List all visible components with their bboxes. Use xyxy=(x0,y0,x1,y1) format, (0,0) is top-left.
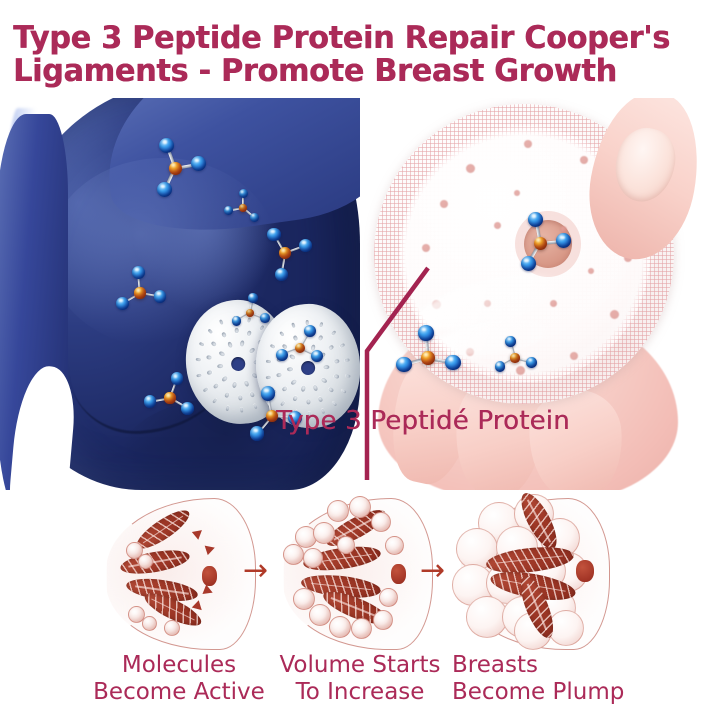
patch-perforation xyxy=(266,375,271,379)
patch-perforation xyxy=(279,331,284,337)
patch-perforation xyxy=(232,381,237,388)
product-infographic: Type 3 Peptide Protein Repair Cooper's L… xyxy=(0,0,720,720)
patch-perforation xyxy=(213,383,219,389)
patch-perforation xyxy=(239,340,244,347)
patch-perforation xyxy=(318,335,324,341)
volume-bubble xyxy=(373,610,393,630)
patch-perforation xyxy=(319,322,324,327)
patch-perforation xyxy=(225,406,229,411)
volume-bubble xyxy=(283,544,304,565)
patch-perforation xyxy=(312,384,318,391)
patch-perforation xyxy=(306,399,310,404)
patch-perforation xyxy=(341,389,347,394)
step-1: Molecules Become Active xyxy=(98,492,268,720)
volume-bubble xyxy=(327,500,349,522)
patch-perforation xyxy=(221,332,227,338)
patch-perforation xyxy=(334,359,340,364)
volume-bubble xyxy=(371,512,391,532)
patch-perforation xyxy=(328,387,334,393)
volume-bubble xyxy=(313,522,335,544)
patch-perforation xyxy=(247,331,252,337)
step-2: Volume Starts To Increase xyxy=(275,492,445,720)
patch-perforation xyxy=(291,323,296,328)
patch-perforation xyxy=(250,391,256,397)
patch-perforation xyxy=(270,343,276,348)
patch-perforation xyxy=(290,378,298,385)
patch-center-hole xyxy=(301,361,316,376)
nipple xyxy=(202,566,217,586)
patch-perforation xyxy=(346,374,351,378)
patch-perforation xyxy=(276,373,282,378)
patch-perforation xyxy=(234,328,238,334)
step-3-breast-diagram xyxy=(452,492,622,650)
patch-perforation xyxy=(266,359,271,363)
volume-bubble xyxy=(329,616,351,638)
patch-perforation xyxy=(345,358,350,362)
patch-perforation xyxy=(286,367,293,372)
patch-perforation xyxy=(199,341,205,346)
patch-perforation xyxy=(253,404,258,409)
step-3: Breasts Become Plump xyxy=(452,492,622,720)
patch-perforation xyxy=(221,375,229,382)
patch-perforation xyxy=(217,364,224,369)
patch-perforation xyxy=(227,341,233,349)
volume-bubble xyxy=(337,536,355,554)
patch-perforation xyxy=(282,344,288,350)
patch-perforation xyxy=(196,373,201,377)
patch-perforation xyxy=(306,320,309,325)
volume-bubble xyxy=(349,496,371,518)
step-1-label: Molecules Become Active xyxy=(84,652,274,706)
patch-perforation xyxy=(340,342,346,347)
patch-perforation xyxy=(323,365,330,370)
patch-perforation xyxy=(298,345,304,352)
molecule-bubble xyxy=(138,554,153,569)
plump-bubble xyxy=(548,610,584,646)
patch-perforation xyxy=(289,353,297,360)
patch-perforation xyxy=(334,374,340,379)
nipple xyxy=(576,560,594,582)
patch-perforation xyxy=(282,386,288,392)
step-3-label: Breasts Become Plump xyxy=(452,652,642,706)
patch-perforation xyxy=(318,396,324,402)
patch-perforation xyxy=(247,318,251,323)
volume-bubble xyxy=(379,588,398,607)
volume-bubble xyxy=(309,604,331,626)
patch-perforation xyxy=(202,387,208,392)
patch-perforation xyxy=(259,325,264,331)
volume-bubble xyxy=(303,548,323,568)
patch-perforation xyxy=(306,332,310,337)
step-2-label: Volume Starts To Increase xyxy=(265,652,455,706)
callout-label: Type 3 Peptidé Protein xyxy=(276,406,570,436)
patch-perforation xyxy=(207,328,212,334)
patch-perforation xyxy=(271,389,277,394)
patch-perforation xyxy=(224,392,229,398)
patch-perforation xyxy=(211,341,217,347)
patch-perforation xyxy=(218,350,226,357)
patch-perforation xyxy=(293,395,299,401)
three-step-process: Molecules Become Active Volume Starts To… xyxy=(0,492,720,720)
patch-center-hole xyxy=(231,357,246,372)
patch-perforation xyxy=(243,380,249,388)
patch-perforation xyxy=(276,358,282,363)
patch-perforation xyxy=(219,319,224,324)
patch-perforation xyxy=(212,399,217,405)
page-title: Type 3 Peptide Protein Repair Cooper's L… xyxy=(13,22,685,88)
patch-perforation xyxy=(248,347,256,354)
volume-bubble xyxy=(385,536,404,555)
patch-perforation xyxy=(207,371,213,376)
patch-perforation xyxy=(233,316,236,321)
patch-perforation xyxy=(206,356,212,360)
patch-perforation xyxy=(328,345,334,351)
patch-perforation xyxy=(195,357,200,361)
molecule-bubble xyxy=(142,616,157,631)
step-arrow-1: → xyxy=(243,556,268,586)
step-arrow-2: → xyxy=(420,556,445,586)
patch-perforation xyxy=(331,330,336,336)
patch-perforation xyxy=(292,335,298,341)
patch-perforation xyxy=(320,377,328,384)
patch-perforation xyxy=(319,352,327,359)
patch-perforation xyxy=(310,345,316,352)
patch-perforation xyxy=(301,385,307,392)
patch-perforation xyxy=(240,408,243,413)
patch-perforation xyxy=(238,395,242,401)
molecule-bubble xyxy=(164,620,180,636)
volume-bubble xyxy=(351,618,372,639)
nipple xyxy=(391,564,406,584)
